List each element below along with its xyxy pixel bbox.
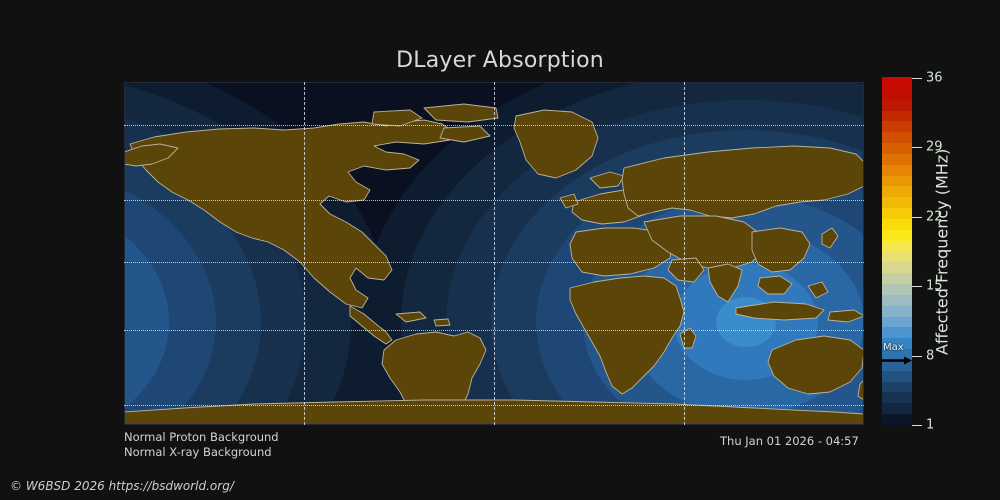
colorbar (882, 78, 912, 425)
colorbar-band (882, 121, 912, 132)
colorbar-band (882, 283, 912, 294)
colorbar-band (882, 229, 912, 240)
colorbar-tick-mark (912, 217, 922, 218)
colorbar-band (882, 327, 912, 338)
colorbar-band (882, 88, 912, 99)
colorbar-band (882, 392, 912, 403)
colorbar-band (882, 164, 912, 175)
max-marker: Max (882, 345, 916, 367)
colorbar-band (882, 218, 912, 229)
world-map (124, 82, 864, 425)
colorbar-band (882, 294, 912, 305)
colorbar-band (882, 381, 912, 392)
colorbar-tick-mark (912, 425, 922, 426)
timestamp: Thu Jan 01 2026 - 04:57 (720, 434, 859, 448)
colorbar-band (882, 110, 912, 121)
colorbar-band (882, 77, 912, 88)
map-svg (124, 82, 864, 425)
figure-canvas: DLayer Absorption (0, 0, 1000, 500)
colorbar-band (882, 316, 912, 327)
colorbar-band (882, 208, 912, 219)
colorbar-gradient (882, 78, 912, 425)
colorbar-band (882, 197, 912, 208)
colorbar-tick-mark (912, 286, 922, 287)
colorbar-axis-label: Affected Frequency (MHz) (931, 78, 953, 425)
colorbar-band (882, 240, 912, 251)
max-marker-label: Max (883, 343, 904, 353)
colorbar-band (882, 251, 912, 262)
colorbar-band (882, 273, 912, 284)
colorbar-band (882, 132, 912, 143)
colorbar-tick-mark (912, 78, 922, 79)
colorbar-band (882, 186, 912, 197)
colorbar-band (882, 99, 912, 110)
max-arrow-icon (882, 356, 912, 365)
colorbar-band (882, 142, 912, 153)
colorbar-band (882, 305, 912, 316)
colorbar-band (882, 153, 912, 164)
landmass-hispaniola (434, 319, 450, 326)
proton-background-status: Normal Proton Background (124, 430, 279, 444)
colorbar-band (882, 414, 912, 425)
colorbar-band (882, 175, 912, 186)
colorbar-band (882, 403, 912, 414)
xray-background-status: Normal X-ray Background (124, 445, 272, 459)
colorbar-band (882, 370, 912, 381)
landmass-arctic-islands (424, 104, 498, 122)
copyright-notice: © W6BSD 2026 https://bsdworld.org/ (10, 479, 234, 493)
page-title: DLayer Absorption (0, 48, 1000, 73)
colorbar-band (882, 262, 912, 273)
colorbar-tick-mark (912, 147, 922, 148)
